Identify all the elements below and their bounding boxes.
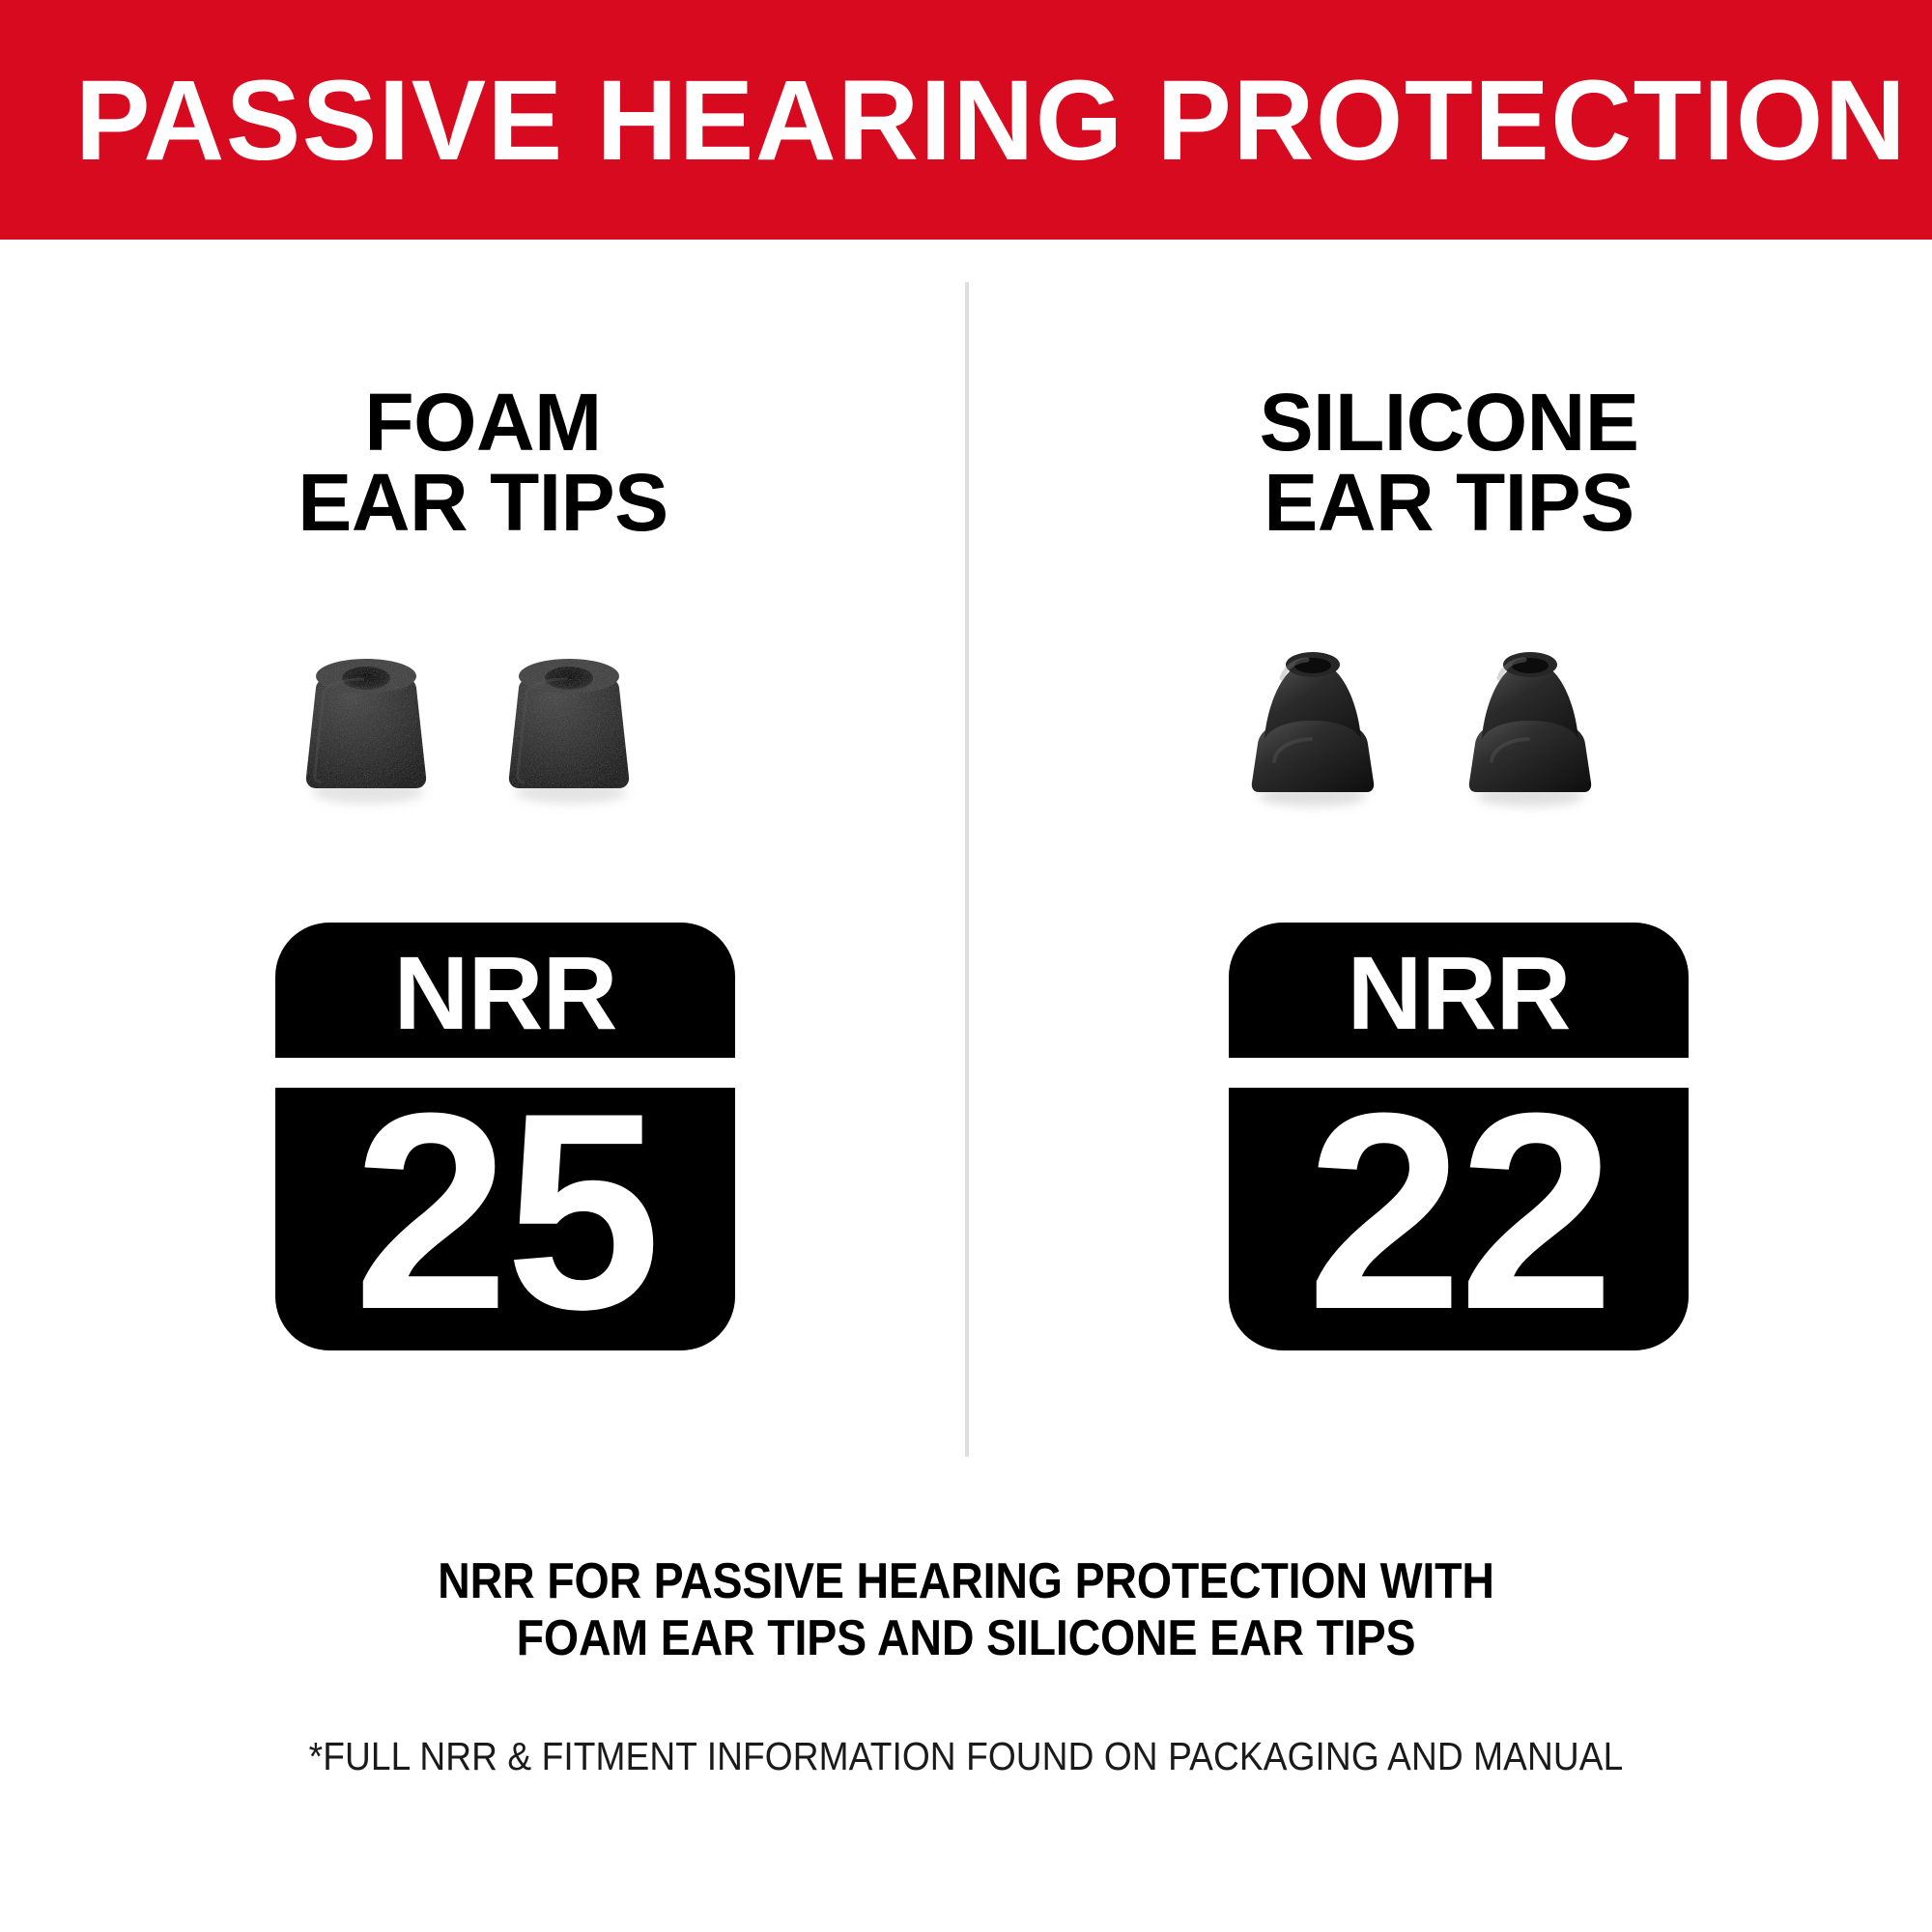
footer-caption: NRR FOR PASSIVE HEARING PROTECTION WITH … [231,1553,1701,1667]
silicone-ear-tip-left [1203,616,1425,838]
column-silicone-heading: SILICONE EAR TIPS [966,383,1932,543]
foam-ear-tip-icon [256,616,478,838]
nrr-badge-foam: NRR 25 [275,923,735,1350]
silicone-ear-tip-right [1420,616,1642,838]
nrr-value: 22 [1229,1088,1689,1350]
page-title: PASSIVE HEARING PROTECTION [75,50,1835,190]
column-foam: FOAM EAR TIPS [0,240,966,1486]
infographic-page: PASSIVE HEARING PROTECTION FOAM EAR TIPS [0,0,1932,1932]
foam-ear-tip-left [256,616,478,838]
silicone-ear-tips-images [966,616,1932,838]
nrr-label: NRR [275,923,735,1058]
silicone-ear-tip-icon [1203,616,1425,838]
foam-ear-tip-icon [459,616,681,838]
footer-note: *FULL NRR & FITMENT INFORMATION FOUND ON… [180,1735,1753,1778]
silicone-ear-tip-icon [1420,616,1642,838]
header-banner: PASSIVE HEARING PROTECTION [0,0,1932,240]
column-silicone: SILICONE EAR TIPS [966,240,1932,1486]
column-foam-heading: FOAM EAR TIPS [0,383,966,543]
foam-ear-tip-right [459,616,681,838]
foam-ear-tips-images [0,616,966,838]
nrr-value: 25 [275,1088,735,1350]
nrr-label: NRR [1229,923,1689,1058]
nrr-badge-silicone: NRR 22 [1229,923,1689,1350]
